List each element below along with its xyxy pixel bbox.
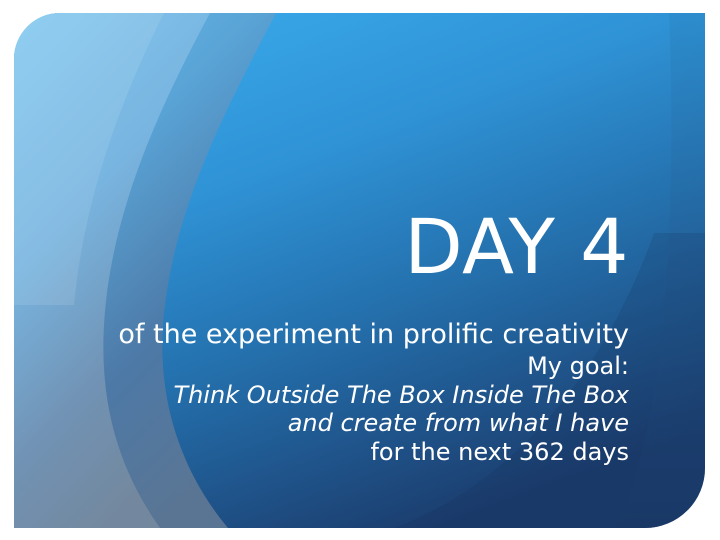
background-artwork-icon [14,13,705,528]
slide-artboard: DAY 4 of the experiment in prolific crea… [14,13,705,528]
slide-canvas: DAY 4 of the experiment in prolific crea… [0,0,720,540]
